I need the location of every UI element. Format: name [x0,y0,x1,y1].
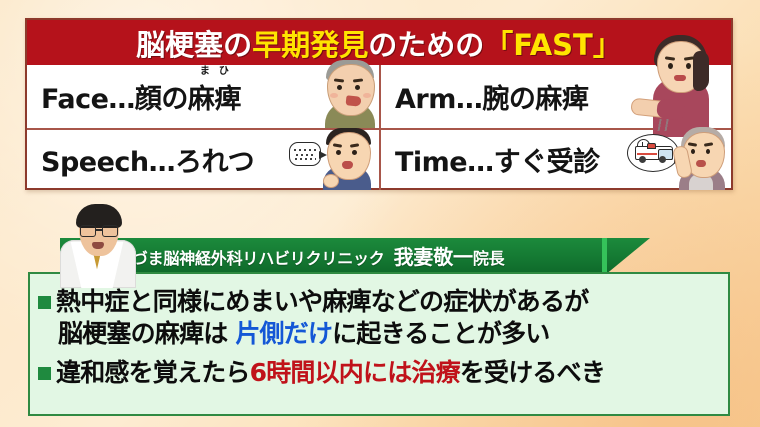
tv-news-graphic: 脳梗塞の早期発見のための「FAST」 Face…顔のまひ麻痺 [0,0,760,427]
fast-label-face: Face…顔のまひ麻痺 [41,77,241,116]
fast-separator-speech: … [149,147,176,178]
key-points-panel: 熱中症と同様にめまいや麻痺などの症状があるが 脳梗塞の麻痺は 片側だけに起きるこ… [28,272,730,416]
fast-cell-arm: Arm…腕の麻痺 [379,65,731,128]
fast-label-arm: Arm…腕の麻痺 [395,77,588,116]
fast-ruby-base-arm: 麻痺 [535,84,588,115]
fast-separator-time: … [467,147,494,178]
speaker-name-bar: あづま脳神経外科リハビリクリニック我妻敬一院長 [60,238,650,272]
speaker-name: 我妻敬一 [394,245,473,269]
fast-english-time: Time [395,147,467,178]
fast-ruby-wrap-face: まひ麻痺 [188,77,241,116]
glasses-icon [80,225,118,235]
fast-grid: Face…顔のまひ麻痺 Arm…腕の麻痺 [27,65,731,190]
fast-cell-speech: Speech…ろれつ [27,128,379,191]
bullet-square-icon [38,367,51,380]
key-point-1-line1: 熱中症と同様にめまいや麻痺などの症状があるが [56,287,588,316]
key-point-2-seg2: を受けるべき [460,358,605,387]
key-point-1-line2: 脳梗塞の麻痺は 片側だけに起きることが多い [56,318,588,350]
speaker-clinic: あづま脳神経外科リハビリクリニック [116,249,385,268]
fast-ruby-base-face: 麻痺 [188,84,241,115]
fast-separator-face: … [108,84,135,115]
man-slurred-speech-icon [307,124,377,190]
speaker-photo [52,196,144,288]
fast-japanese-face: 顔の [135,84,188,115]
fast-separator-arm: … [456,84,483,115]
fast-label-speech: Speech…ろれつ [41,140,254,179]
speaker-title: 院長 [473,249,505,268]
title-segment-2: のための [368,28,484,62]
fast-ruby-face: まひ [188,62,241,77]
fast-japanese-arm: 腕の [482,84,535,115]
key-point-2-text: 違和感を覚えたら6時間以内には治療を受けるべき [56,357,605,389]
speech-bubble-icon [289,142,321,166]
key-point-1-line2-highlight: 片側だけ [235,319,332,348]
woman-calling-ambulance-icon [627,124,731,190]
key-point-1: 熱中症と同様にめまいや麻痺などの症状があるが 脳梗塞の麻痺は 片側だけに起きるこ… [38,286,718,351]
key-point-2-seg0: 違和感を覚えたら [56,358,250,387]
woman-arm-weakness-icon [641,17,717,137]
fast-card: 脳梗塞の早期発見のための「FAST」 Face…顔のまひ麻痺 [25,18,733,190]
fast-english-arm: Arm [395,84,456,115]
key-point-1-text: 熱中症と同様にめまいや麻痺などの症状があるが 脳梗塞の麻痺は 片側だけに起きるこ… [56,286,588,351]
title-segment-0: 脳梗塞の [136,28,252,62]
fast-english-speech: Speech [41,147,149,178]
fast-cell-time: Time…すぐ受診 [379,128,731,191]
fast-label-time: Time…すぐ受診 [395,140,600,179]
fast-english-face: Face [41,84,108,115]
key-point-2: 違和感を覚えたら6時間以内には治療を受けるべき [38,357,718,389]
title-segment-3: 「FAST」 [484,28,622,62]
fast-cell-face: Face…顔のまひ麻痺 [27,65,379,128]
bullet-square-icon [38,296,51,309]
thought-bubble-icon [627,134,679,172]
key-point-1-line2-seg0: 脳梗塞の麻痺は [58,319,235,348]
key-point-2-highlight: 6時間以内には治療 [250,358,460,387]
ambulance-icon [635,145,673,163]
fast-japanese-time: すぐ受診 [494,147,600,178]
key-point-1-line2-seg2: に起きることが多い [332,319,549,348]
fast-japanese-speech: ろれつ [175,147,254,178]
elderly-man-icon [319,56,381,128]
